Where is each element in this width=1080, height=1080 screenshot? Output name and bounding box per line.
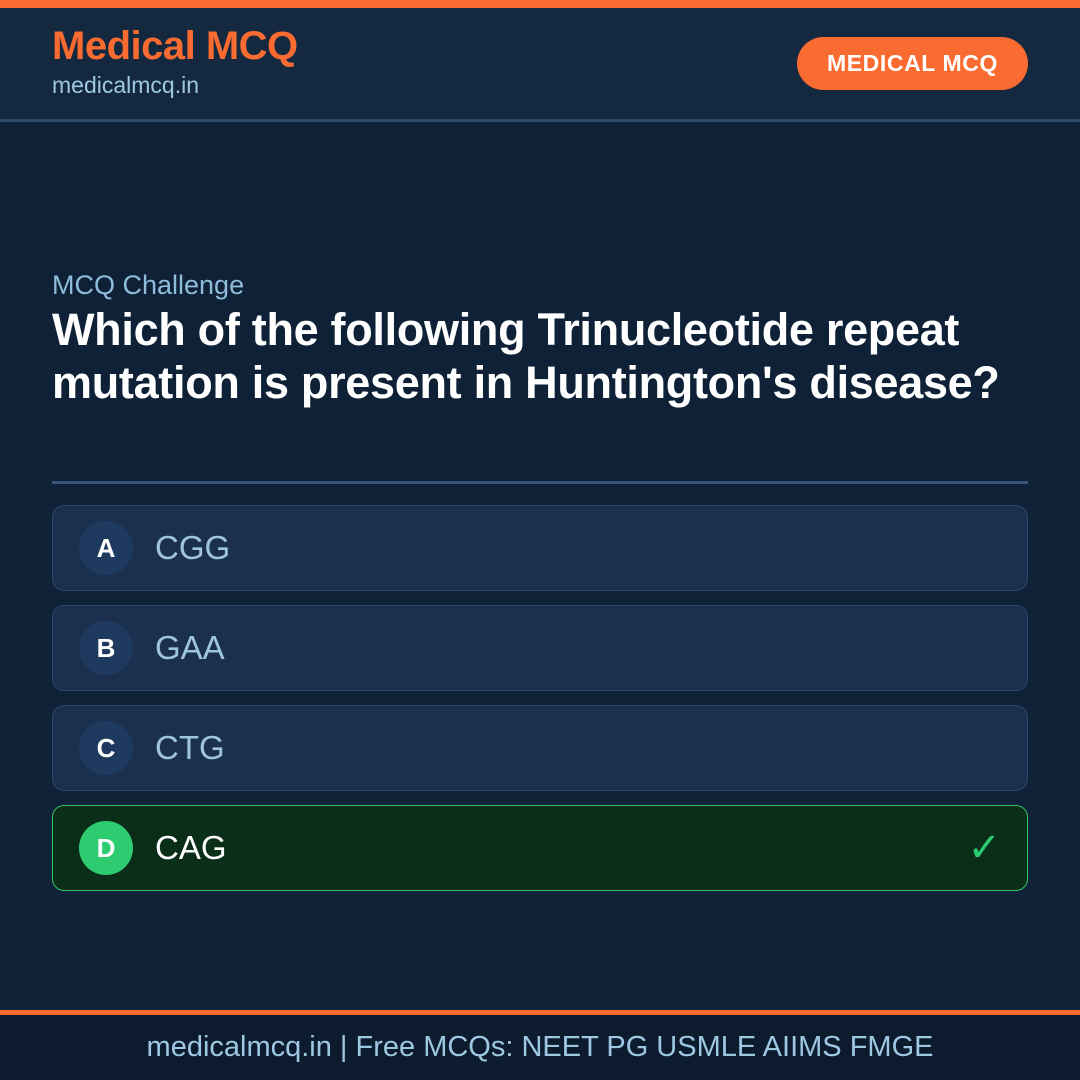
options-list: A CGG B GAA C CTG D CAG ✓	[52, 505, 1028, 891]
page-header: Medical MCQ medicalmcq.in MEDICAL MCQ	[0, 8, 1080, 122]
option-letter-badge: A	[79, 521, 133, 575]
check-icon: ✓	[967, 828, 1001, 868]
option-label: CTG	[155, 729, 225, 767]
main-content: MCQ Challenge Which of the following Tri…	[0, 125, 1080, 1005]
option-letter-badge: D	[79, 821, 133, 875]
question-text: Which of the following Trinucleotide rep…	[52, 303, 1028, 409]
option-a[interactable]: A CGG	[52, 505, 1028, 591]
section-divider	[52, 481, 1028, 484]
footer-text: medicalmcq.in | Free MCQs: NEET PG USMLE…	[147, 1031, 934, 1064]
brand-badge: MEDICAL MCQ	[797, 37, 1028, 90]
brand-subtitle: medicalmcq.in	[52, 70, 298, 101]
option-b[interactable]: B GAA	[52, 605, 1028, 691]
option-label: CAG	[155, 829, 227, 867]
brand-block: Medical MCQ medicalmcq.in	[52, 25, 298, 101]
option-letter-badge: C	[79, 721, 133, 775]
option-label: GAA	[155, 629, 225, 667]
option-d[interactable]: D CAG ✓	[52, 805, 1028, 891]
brand-title: Medical MCQ	[52, 25, 298, 67]
page-footer: medicalmcq.in | Free MCQs: NEET PG USMLE…	[0, 1010, 1080, 1080]
top-accent-bar	[0, 0, 1080, 8]
option-c[interactable]: C CTG	[52, 705, 1028, 791]
option-letter-badge: B	[79, 621, 133, 675]
eyebrow-label: MCQ Challenge	[52, 270, 244, 301]
option-label: CGG	[155, 529, 230, 567]
